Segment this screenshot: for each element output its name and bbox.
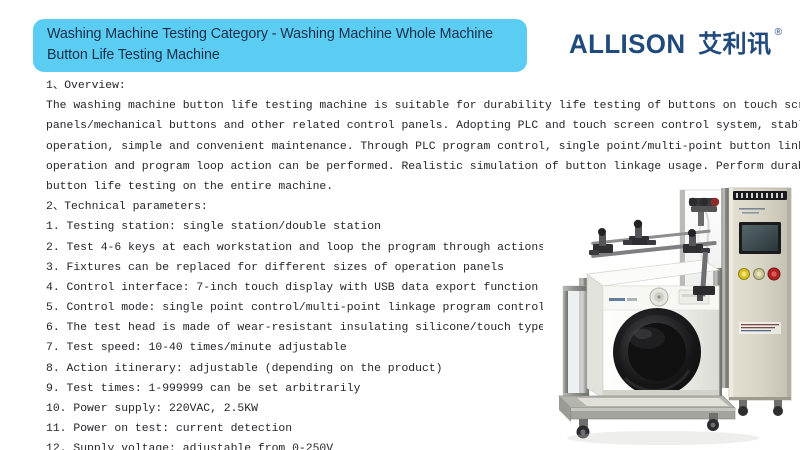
washer-brand-text [609, 298, 637, 301]
control-cabinet [729, 188, 791, 400]
parameter-text: Supply voltage: adjustable from 0-250V [73, 443, 333, 450]
cabinet-warning-label [739, 322, 781, 334]
product-detail-page: Washing Machine Testing Category - Washi… [0, 0, 800, 450]
page-title-line-2: Button Life Testing Machine [47, 45, 513, 66]
overview-heading: 1、Overview: [46, 76, 786, 96]
parameter-text: Test 4-6 keys at each workstation and lo… [67, 242, 546, 254]
touch-screen-display[interactable] [742, 225, 778, 251]
parameter-number: 1. [46, 217, 60, 237]
parameter-number: 2. [46, 238, 60, 258]
parameter-text: Test speed: 10-40 times/minute adjustabl… [67, 342, 347, 354]
overview-line: operation, simple and convenient mainten… [46, 137, 786, 157]
overview-line: panels/mechanical buttons and other rela… [46, 116, 786, 136]
logo-chinese-name: 艾利讯 [698, 30, 772, 58]
product-photo [543, 182, 800, 450]
parameter-text: Test times: 1-999999 can be set arbitrar… [67, 383, 361, 395]
trolley-base [559, 396, 735, 422]
parameter-number: 4. [46, 278, 60, 298]
parameter-number: 3. [46, 258, 60, 278]
parameter-number: 7. [46, 338, 60, 358]
parameter-number: 5. [46, 298, 60, 318]
parameter-number: 9. [46, 379, 60, 399]
parameter-number: 12. [46, 439, 67, 450]
parameter-number: 11. [46, 419, 67, 439]
overview-line: operation and program loop action can be… [46, 157, 786, 177]
parameter-number: 10. [46, 399, 67, 419]
registered-trademark-icon: ® [775, 28, 782, 38]
parameter-text: Testing station: single station/double s… [67, 221, 381, 233]
page-title-line-1: Washing Machine Testing Category - Washi… [47, 24, 513, 45]
parameter-text: Power supply: 220VAC, 2.5KW [73, 403, 258, 415]
brand-logo: ALLISON 艾利讯 ® [569, 30, 782, 60]
logo-wordmark: ALLISON [569, 30, 685, 58]
page-header: Washing Machine Testing Category - Washi… [0, 0, 800, 72]
test-probe-head[interactable] [693, 286, 715, 295]
parameter-text: Control interface: 7-inch touch display … [67, 282, 539, 294]
parameter-text: Action itinerary: adjustable (depending … [67, 363, 443, 375]
overview-line: The washing machine button life testing … [46, 96, 786, 116]
product-photo-illustration [543, 182, 800, 450]
parameter-text: Control mode: single point control/multi… [67, 302, 546, 314]
ground-shadow [567, 431, 759, 445]
parameter-number: 8. [46, 359, 60, 379]
parameter-text: Fixtures can be replaced for different s… [67, 262, 504, 274]
parameter-text: Power on test: current detection [73, 423, 292, 435]
parameter-number: 6. [46, 318, 60, 338]
page-title-banner: Washing Machine Testing Category - Washi… [33, 19, 527, 72]
